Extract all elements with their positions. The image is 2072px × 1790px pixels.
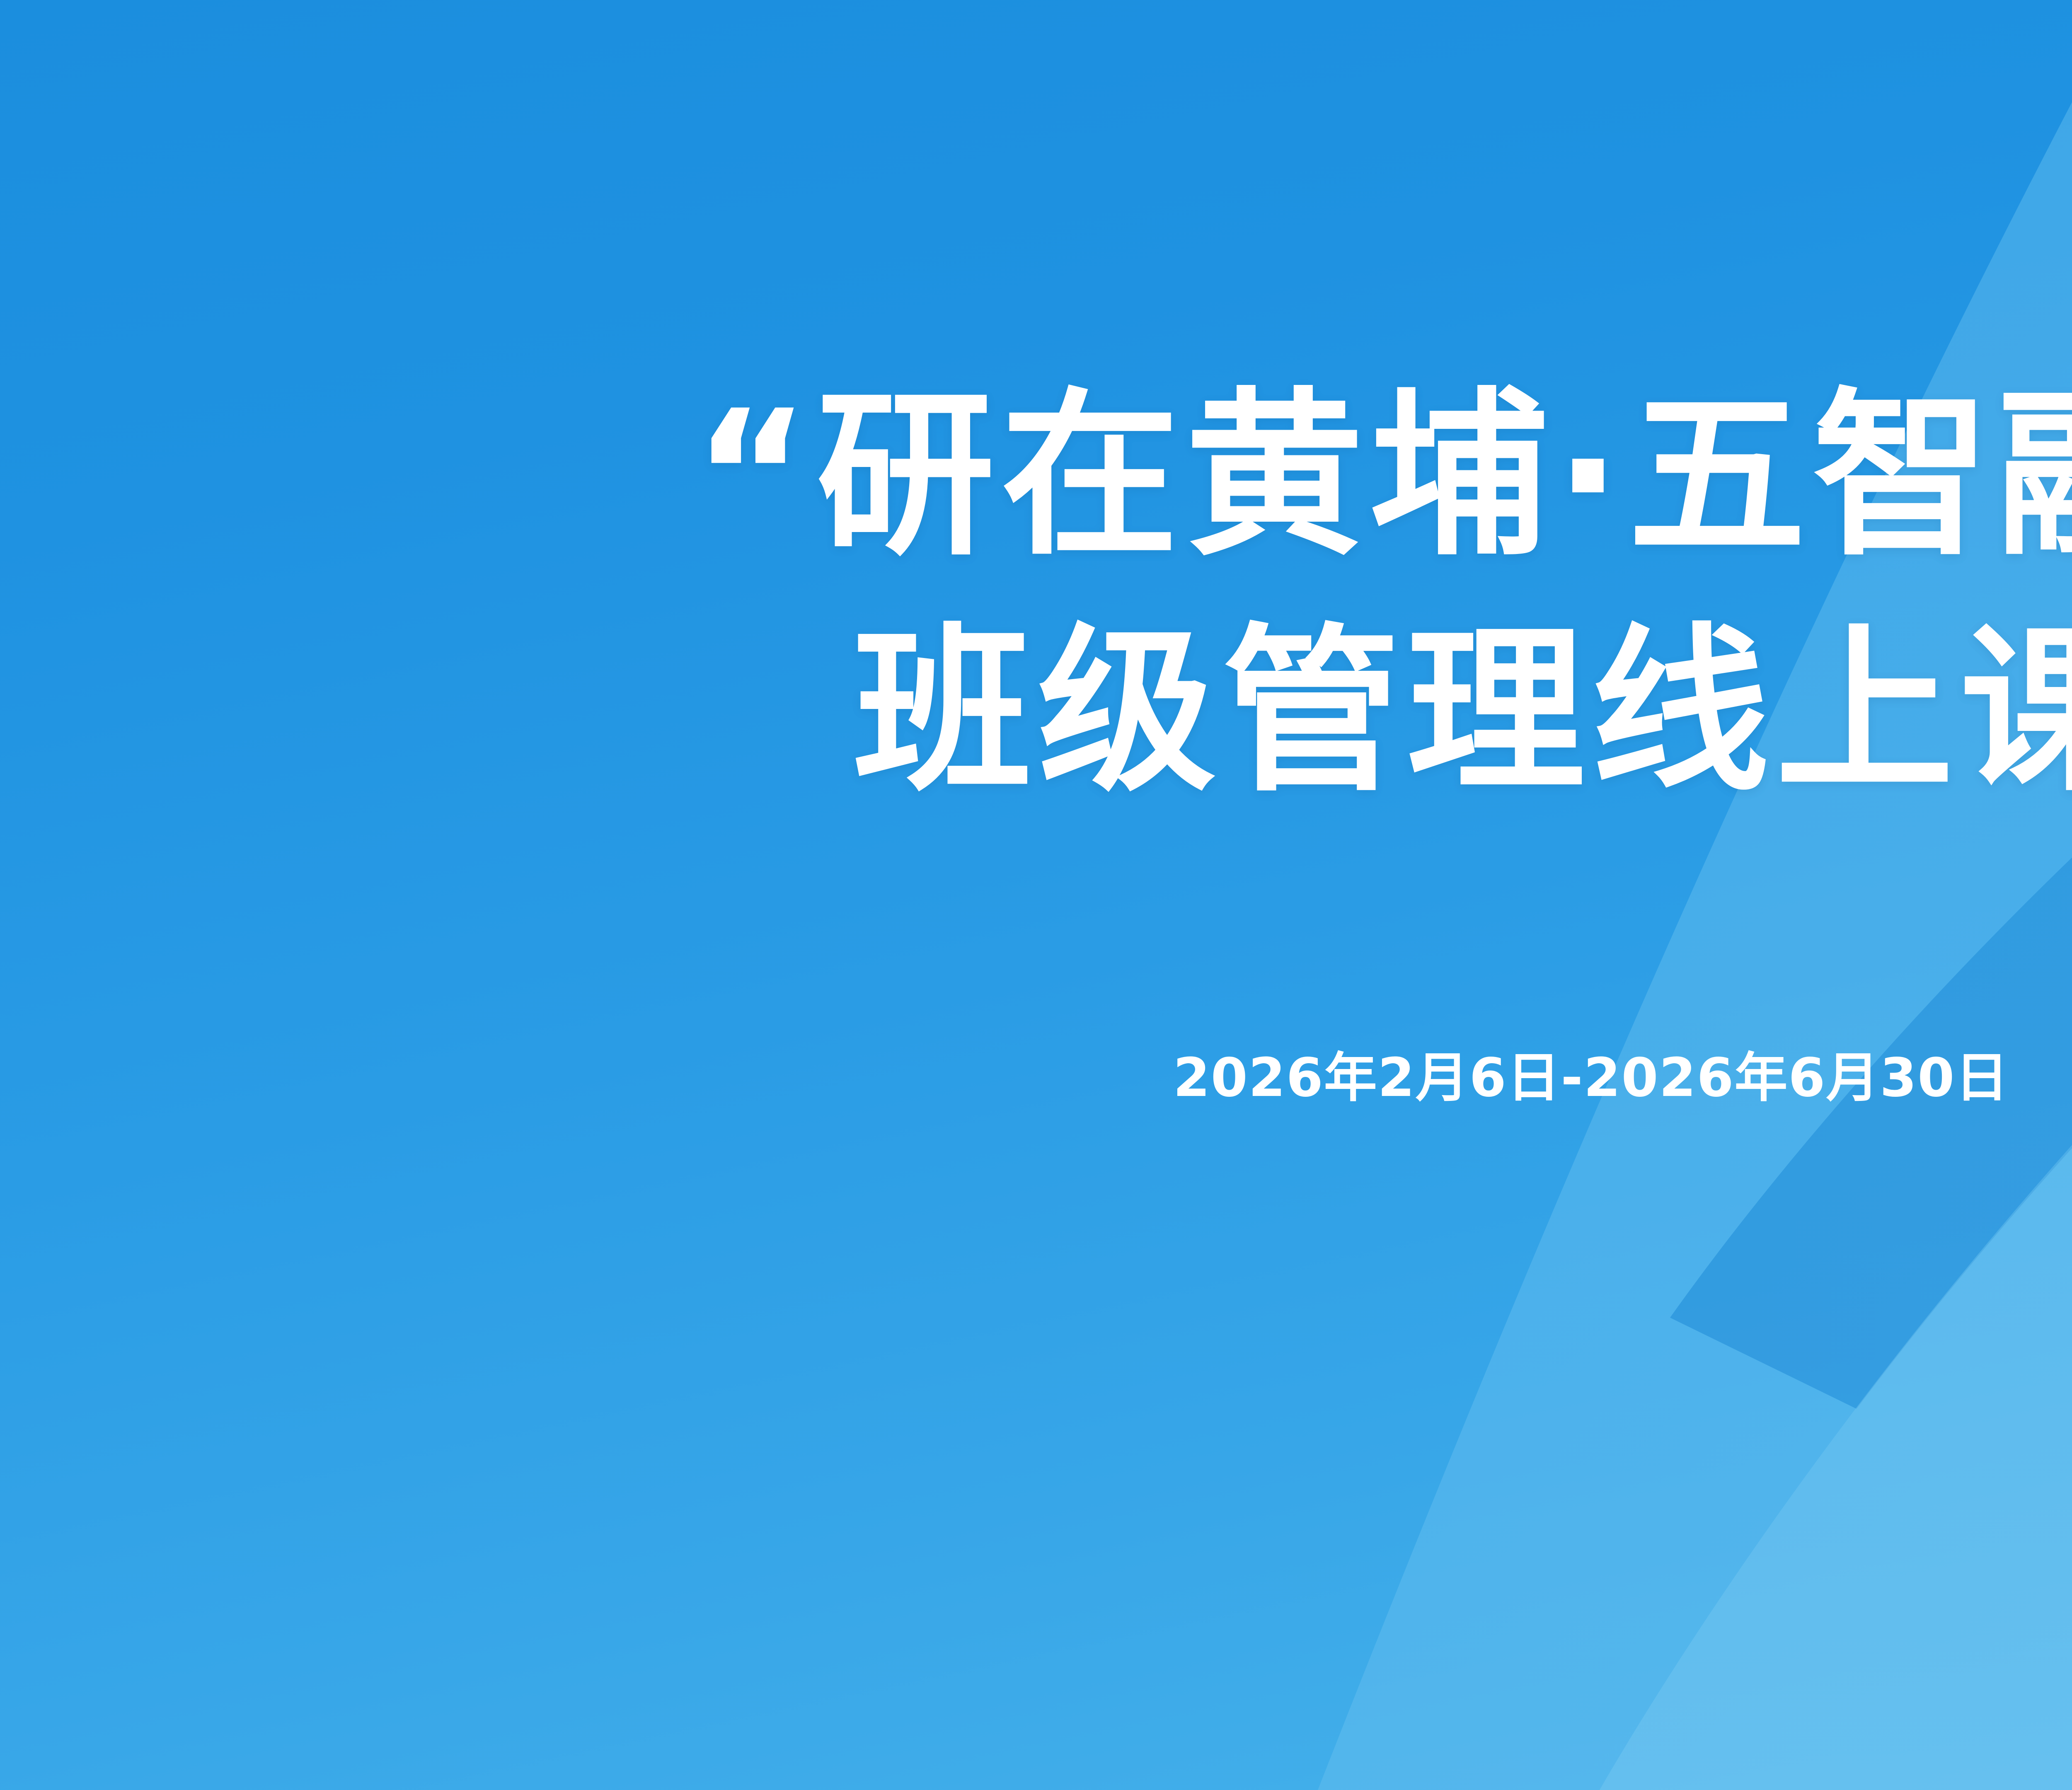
poster-title-line-2: 班级管理线上课程 — [0, 621, 2072, 803]
title-block: “研在黄埔·五智融合” 班级管理线上课程 — [0, 385, 2072, 803]
poster-canvas: “研在黄埔·五智融合” 班级管理线上课程 2026年2月6日-2026年6月30… — [0, 0, 2072, 1790]
poster-content: “研在黄埔·五智融合” 班级管理线上课程 2026年2月6日-2026年6月30… — [0, 0, 2072, 1790]
poster-title-line-1: “研在黄埔·五智融合” — [0, 385, 2072, 567]
poster-date-range: 2026年2月6日-2026年6月30日 — [1173, 1035, 2009, 1111]
